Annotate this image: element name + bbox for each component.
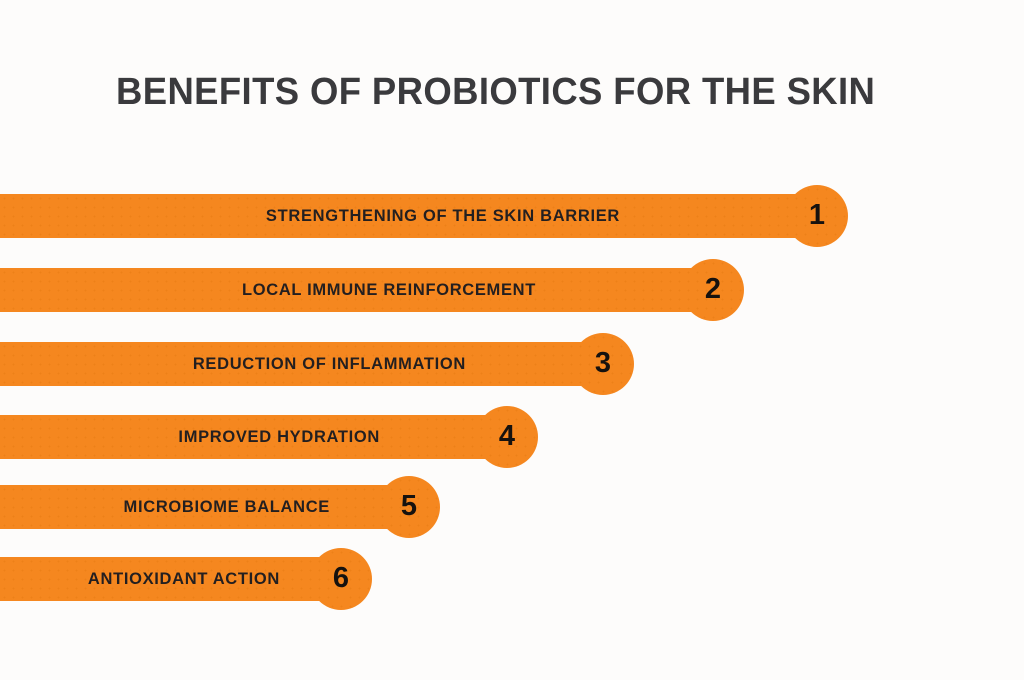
benefits-bar-list: 1STRENGTHENING OF THE SKIN BARRIER2LOCAL… [0,0,1024,680]
benefit-rank-number: 3 [572,333,634,395]
benefit-label: MICROBIOME BALANCE [10,485,330,529]
benefit-rank-number: 4 [476,406,538,468]
benefit-label: ANTIOXIDANT ACTION [8,557,280,601]
benefit-bar-row[interactable]: 2LOCAL IMMUNE REINFORCEMENT [0,259,744,321]
benefit-rank-number: 5 [378,476,440,538]
benefit-bar-row[interactable]: 4IMPROVED HYDRATION [0,406,538,468]
benefit-rank-number: 6 [310,548,372,610]
benefit-bar-row[interactable]: 1STRENGTHENING OF THE SKIN BARRIER [0,185,848,247]
benefit-bar-row[interactable]: 5MICROBIOME BALANCE [0,476,440,538]
benefit-label: REDUCTION OF INFLAMMATION [14,342,466,386]
benefit-label: STRENGTHENING OF THE SKIN BARRIER [19,194,620,238]
benefit-rank-circle: 2 [682,259,744,321]
benefit-rank-number: 1 [786,185,848,247]
infographic-canvas: BENEFITS OF PROBIOTICS FOR THE SKIN 1STR… [0,0,1024,680]
benefit-rank-circle: 6 [310,548,372,610]
benefit-bar-row[interactable]: 6ANTIOXIDANT ACTION [0,548,372,610]
benefit-rank-circle: 5 [378,476,440,538]
benefit-rank-circle: 4 [476,406,538,468]
benefit-label: IMPROVED HYDRATION [11,415,380,459]
benefit-rank-number: 2 [682,259,744,321]
benefit-rank-circle: 3 [572,333,634,395]
benefit-label: LOCAL IMMUNE REINFORCEMENT [16,268,536,312]
benefit-bar-row[interactable]: 3REDUCTION OF INFLAMMATION [0,333,634,395]
benefit-rank-circle: 1 [786,185,848,247]
